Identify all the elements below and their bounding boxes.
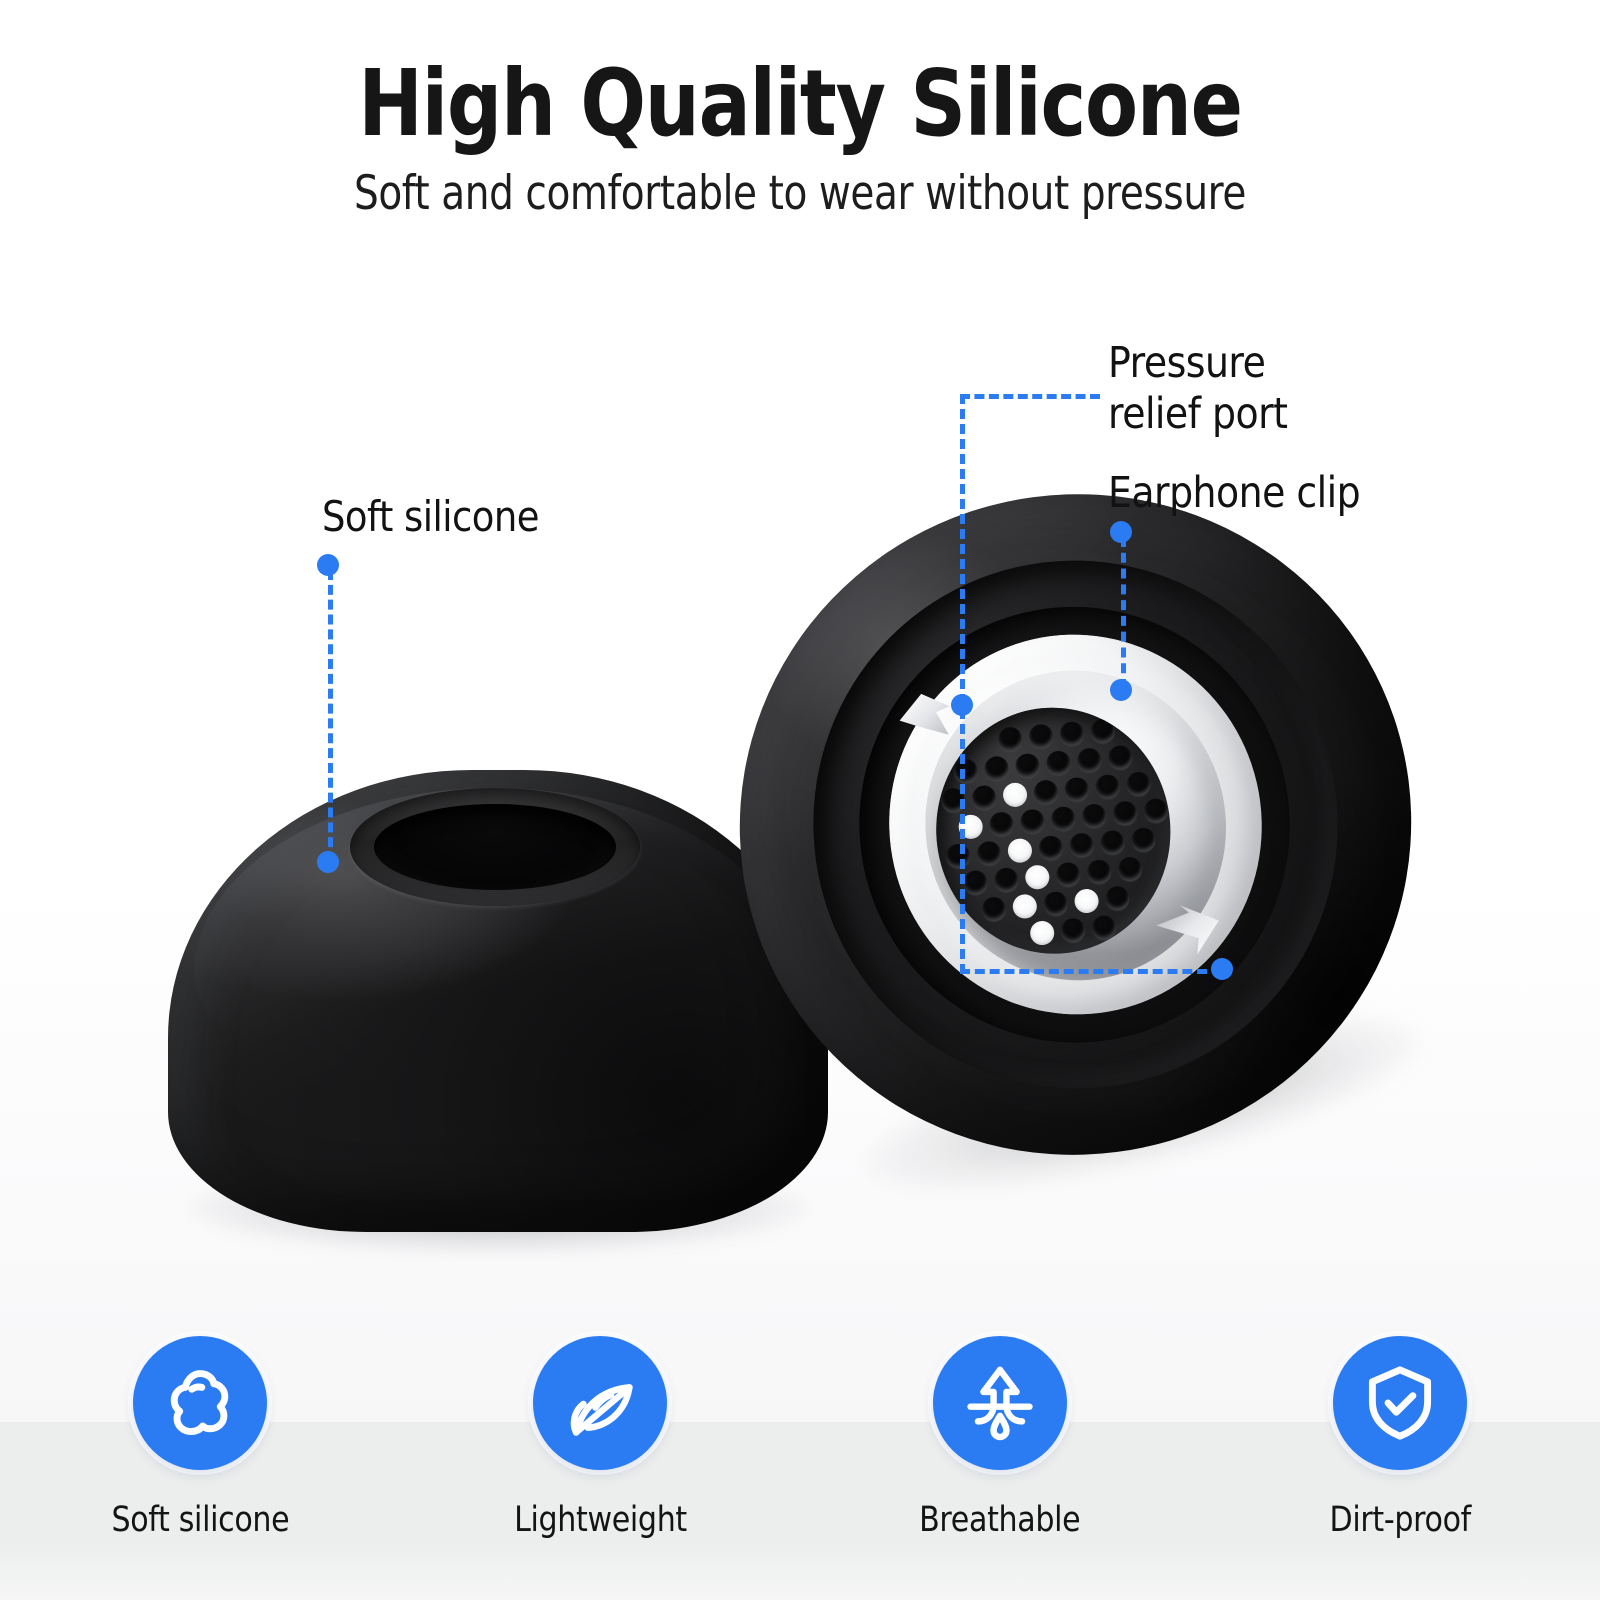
callout-dot-pressure-target [1211,958,1233,980]
callout-label-earphone-clip: Earphone clip [1108,468,1360,519]
mesh-hole [976,840,1002,866]
mesh-hole [1094,774,1120,800]
callout-line-earphone-clip [1121,537,1126,689]
feather-icon [533,1336,667,1470]
mesh-hole [945,843,971,869]
mesh-hole [1042,891,1068,917]
feature-lightweight[interactable]: Lightweight [440,1336,760,1540]
callout-line-soft-silicone [328,570,333,862]
mesh-hole [1028,723,1054,749]
feature-label: Dirt-proof [1329,1500,1470,1540]
cloud-blob-icon [133,1336,267,1470]
callout-dot-pressure-mid [951,694,973,716]
feature-soft-silicone[interactable]: Soft silicone [40,1336,360,1540]
mesh-hole [1125,771,1151,797]
page-title: High Quality Silicone [128,52,1472,156]
infographic-page: High Quality Silicone Soft and comfortab… [0,0,1600,1600]
feature-breathable[interactable]: Breathable [840,1336,1160,1540]
pressure-relief-port-hole [1024,864,1050,890]
callout-line-pressure-bottom [960,969,1222,974]
mesh-hole [997,726,1023,752]
pressure-relief-port-hole [1029,920,1055,946]
callout-line-pressure-top [960,394,1100,399]
mesh-hole [984,755,1010,781]
background-band-fade [0,1540,1600,1600]
mesh-hole [1086,859,1112,885]
mesh-hole [1081,803,1107,829]
mesh-hole [1032,779,1058,805]
mesh-hole [1045,750,1071,776]
left-ear-tip-opening [374,804,616,890]
mesh-hole [1107,745,1133,771]
mesh-hole [1091,915,1117,941]
mesh-hole [1068,832,1094,858]
feature-list: Soft silicone Lightweight [0,1336,1600,1540]
mesh-hole [993,867,1019,893]
callout-line-pressure-vertical [960,394,965,974]
callout-dot-earphone-clip-target [1110,679,1132,701]
mesh-hole [971,785,997,811]
mesh-hole [1063,776,1089,802]
mesh-hole [1050,806,1076,832]
mesh-hole [1117,856,1143,882]
mesh-hole [1037,835,1063,861]
feature-label: Breathable [919,1500,1080,1540]
mesh-hole [1058,721,1084,747]
shield-check-icon [1333,1336,1467,1470]
airflow-droplet-icon [933,1336,1067,1470]
callout-label-pressure-relief-port: Pressure relief port [1108,338,1287,440]
pressure-relief-port-hole [1002,782,1028,808]
mesh-hole [989,811,1015,837]
feature-label: Lightweight [514,1500,687,1540]
page-subtitle: Soft and comfortable to wear without pre… [136,166,1464,222]
left-ear-tip [168,770,828,1250]
pressure-relief-port-hole [1011,893,1037,919]
feature-dirt-proof[interactable]: Dirt-proof [1240,1336,1560,1540]
mesh-hole [1099,830,1125,856]
mesh-hole [1104,885,1130,911]
mesh-hole [1015,753,1041,779]
pressure-relief-port-hole [1006,838,1032,864]
callout-dot-soft-silicone-target [317,851,339,873]
mesh-hole [980,896,1006,922]
mesh-hole [1130,827,1156,853]
mesh-hole [1055,862,1081,888]
mesh-hole [1089,718,1115,744]
feature-label: Soft silicone [111,1500,289,1540]
mesh-hole [953,758,979,784]
mesh-hole [1076,747,1102,773]
mesh-hole [1112,800,1138,826]
mesh-hole [1060,917,1086,943]
pressure-relief-port-hole [1073,888,1099,914]
callout-label-soft-silicone: Soft silicone [322,492,539,542]
mesh-hole [1143,798,1169,824]
mesh-hole [963,870,989,896]
mesh-hole [1019,808,1045,834]
header: High Quality Silicone Soft and comfortab… [0,52,1600,222]
